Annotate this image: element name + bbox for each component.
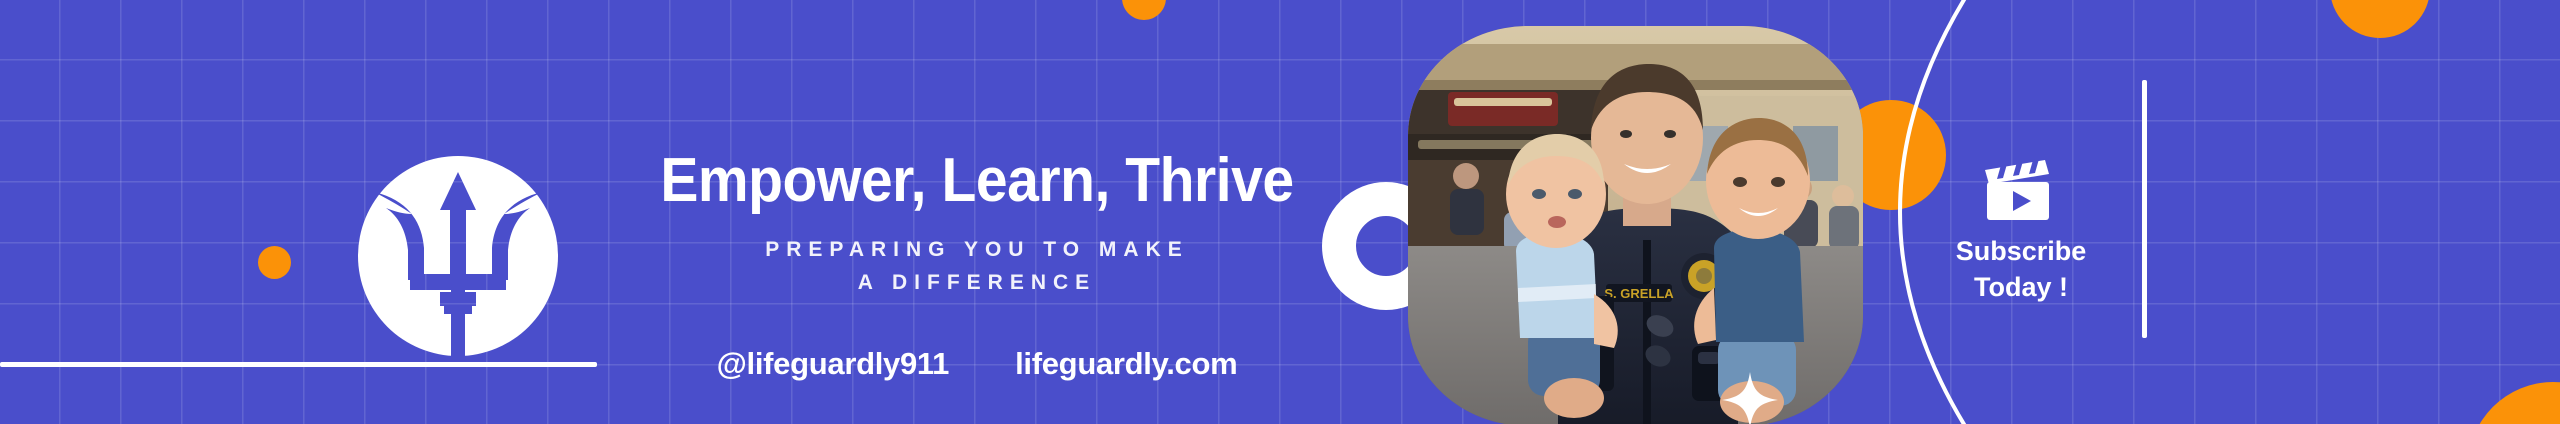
orange-circle-top-right-icon (2330, 0, 2430, 38)
subscribe-label-line-2: Today ! (1926, 270, 2116, 306)
photo-image: S. GRELLA (1408, 26, 1863, 424)
clapperboard-play-icon (1983, 158, 2059, 220)
tagline: PREPARING YOU TO MAKE A DIFFERENCE (597, 234, 1357, 299)
subscribe-label-line-1: Subscribe (1926, 234, 2116, 270)
trident-logo-icon (352, 156, 564, 386)
tagline-line-2: A DIFFERENCE (597, 267, 1357, 300)
page-title: Empower, Learn, Thrive (627, 150, 1326, 212)
orange-dot-left-icon (258, 246, 291, 279)
orange-circle-bottom-right-icon (2468, 382, 2560, 424)
hero-photo: S. GRELLA (1408, 26, 1863, 424)
website-link[interactable]: lifeguardly.com (1015, 346, 1237, 382)
subscribe-cta[interactable]: Subscribe Today ! (1926, 158, 2116, 305)
tagline-line-1: PREPARING YOU TO MAKE (597, 234, 1357, 267)
youtube-channel-banner: Empower, Learn, Thrive PREPARING YOU TO … (0, 0, 2560, 424)
headline-block: Empower, Learn, Thrive PREPARING YOU TO … (597, 150, 1357, 299)
orange-half-dot-top-icon (1122, 0, 1166, 20)
contact-links: @lifeguardly911 lifeguardly.com (597, 346, 1357, 382)
social-handle[interactable]: @lifeguardly911 (717, 346, 950, 382)
white-vertical-rule (2142, 80, 2147, 338)
white-arc-icon (290, 0, 1350, 100)
svg-text:S. GRELLA: S. GRELLA (1604, 286, 1674, 301)
